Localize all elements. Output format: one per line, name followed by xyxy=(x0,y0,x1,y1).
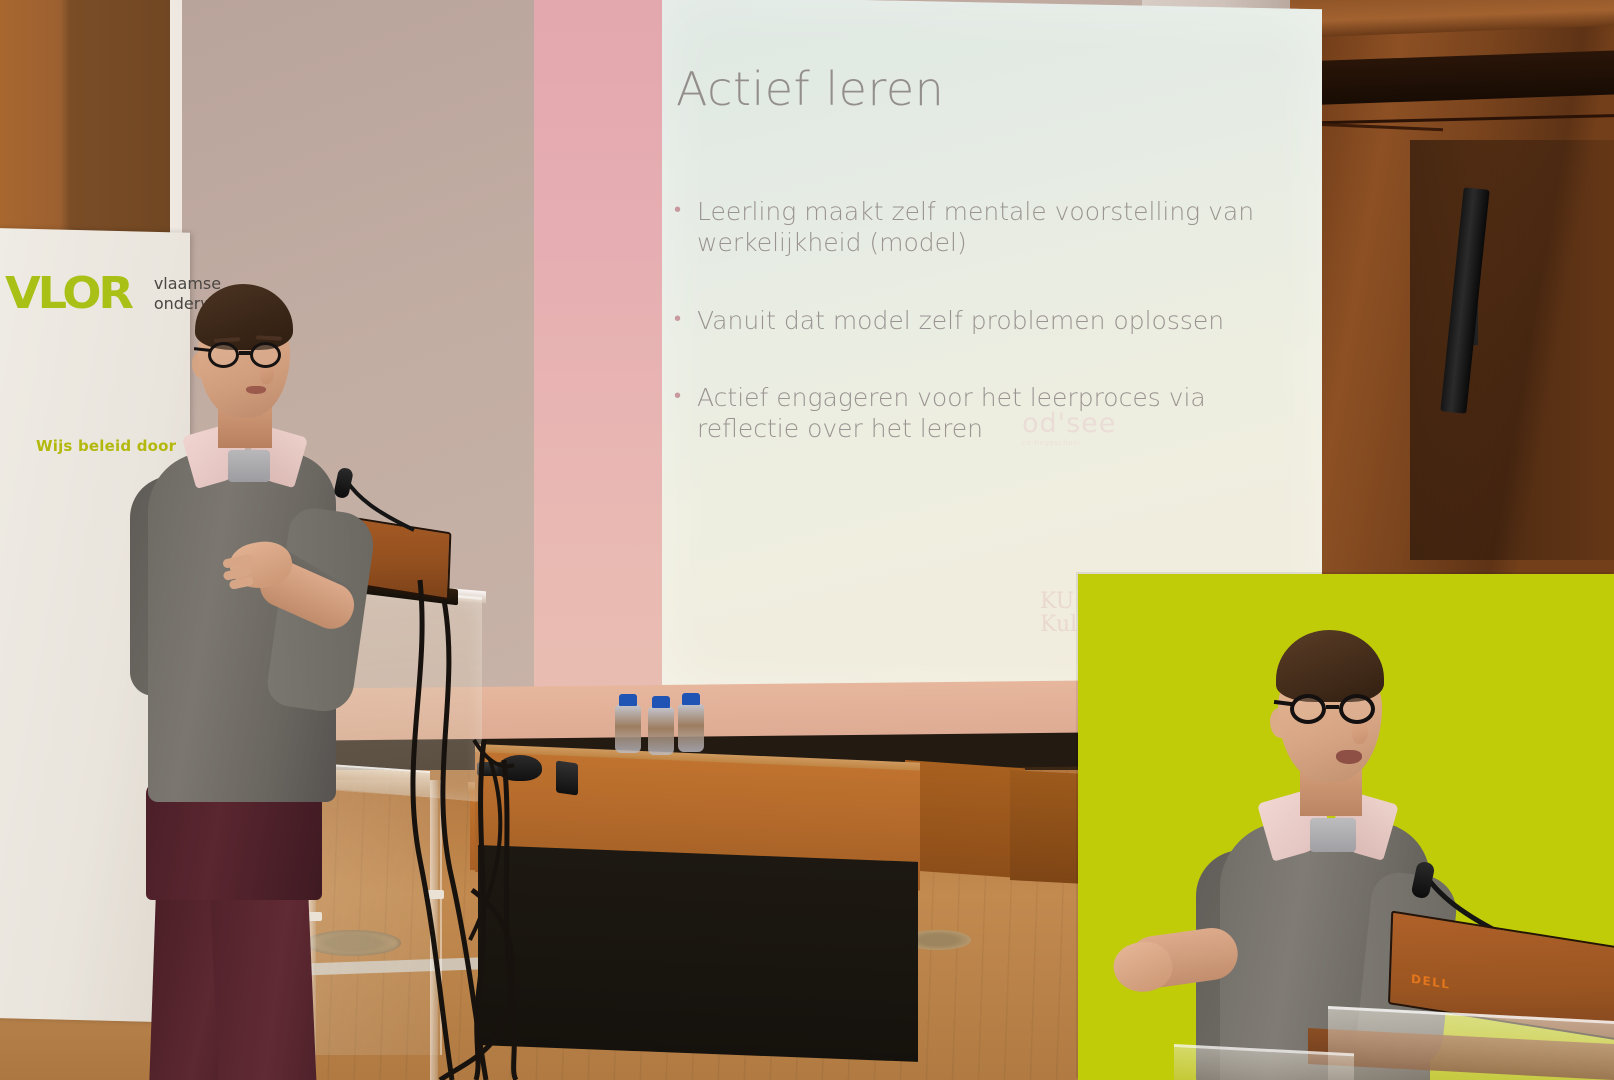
slide-bullet-item: • Leerling maakt zelf mentale voorstelli… xyxy=(674,196,1304,259)
wall-shadow xyxy=(1410,140,1614,560)
bullet-dot-icon: • xyxy=(674,305,681,336)
bullet-dot-icon: • xyxy=(674,196,681,259)
person-mouth xyxy=(246,386,266,394)
odisee-tagline: co-hogeschool xyxy=(1022,439,1132,447)
inset-person-mouth xyxy=(1336,750,1362,764)
inset-glasses-lens xyxy=(1339,694,1375,724)
presenter-person xyxy=(70,280,370,1080)
inset-glasses-lens xyxy=(1290,694,1326,724)
desk-wing xyxy=(905,760,1025,878)
odisee-logo-icon: od'see co-hogeschool xyxy=(1022,408,1132,458)
bullet-dot-icon: • xyxy=(674,382,681,445)
person-shirt-placket xyxy=(228,450,270,482)
slide-bullet-item: • Actief engageren voor het leerproces v… xyxy=(674,382,1304,445)
cable-icon xyxy=(460,740,620,1080)
glasses-bridge xyxy=(239,351,251,355)
inset-laptop-brand-logo: DELL xyxy=(1411,972,1451,992)
portrait-inset: DELL xyxy=(1078,574,1614,1080)
eyeglasses-icon xyxy=(208,342,296,368)
slide-bullet-text: Actief engageren voor het leerproces via… xyxy=(697,382,1304,445)
slide-title: Actief leren xyxy=(676,62,944,116)
slide-bullet-item: • Vanuit dat model zelf problemen oploss… xyxy=(674,305,1304,336)
inset-shirt-placket xyxy=(1310,818,1356,852)
inset-person-hair xyxy=(1276,630,1384,702)
inset-glasses-bridge xyxy=(1326,705,1339,709)
slide-bullet-text: Leerling maakt zelf mentale voorstelling… xyxy=(697,196,1304,259)
inset-eyeglasses-icon xyxy=(1290,694,1390,724)
slide-bullet-text: Vanuit dat model zelf problemen oplossen xyxy=(697,305,1224,336)
odisee-logo-text: od'see xyxy=(1022,408,1116,439)
glasses-lens xyxy=(208,342,239,368)
glasses-lens xyxy=(250,342,281,368)
slide-bullet-list: • Leerling maakt zelf mentale voorstelli… xyxy=(674,196,1304,490)
photograph-canvas: Actief leren • Leerling maakt zelf menta… xyxy=(0,0,1614,1080)
